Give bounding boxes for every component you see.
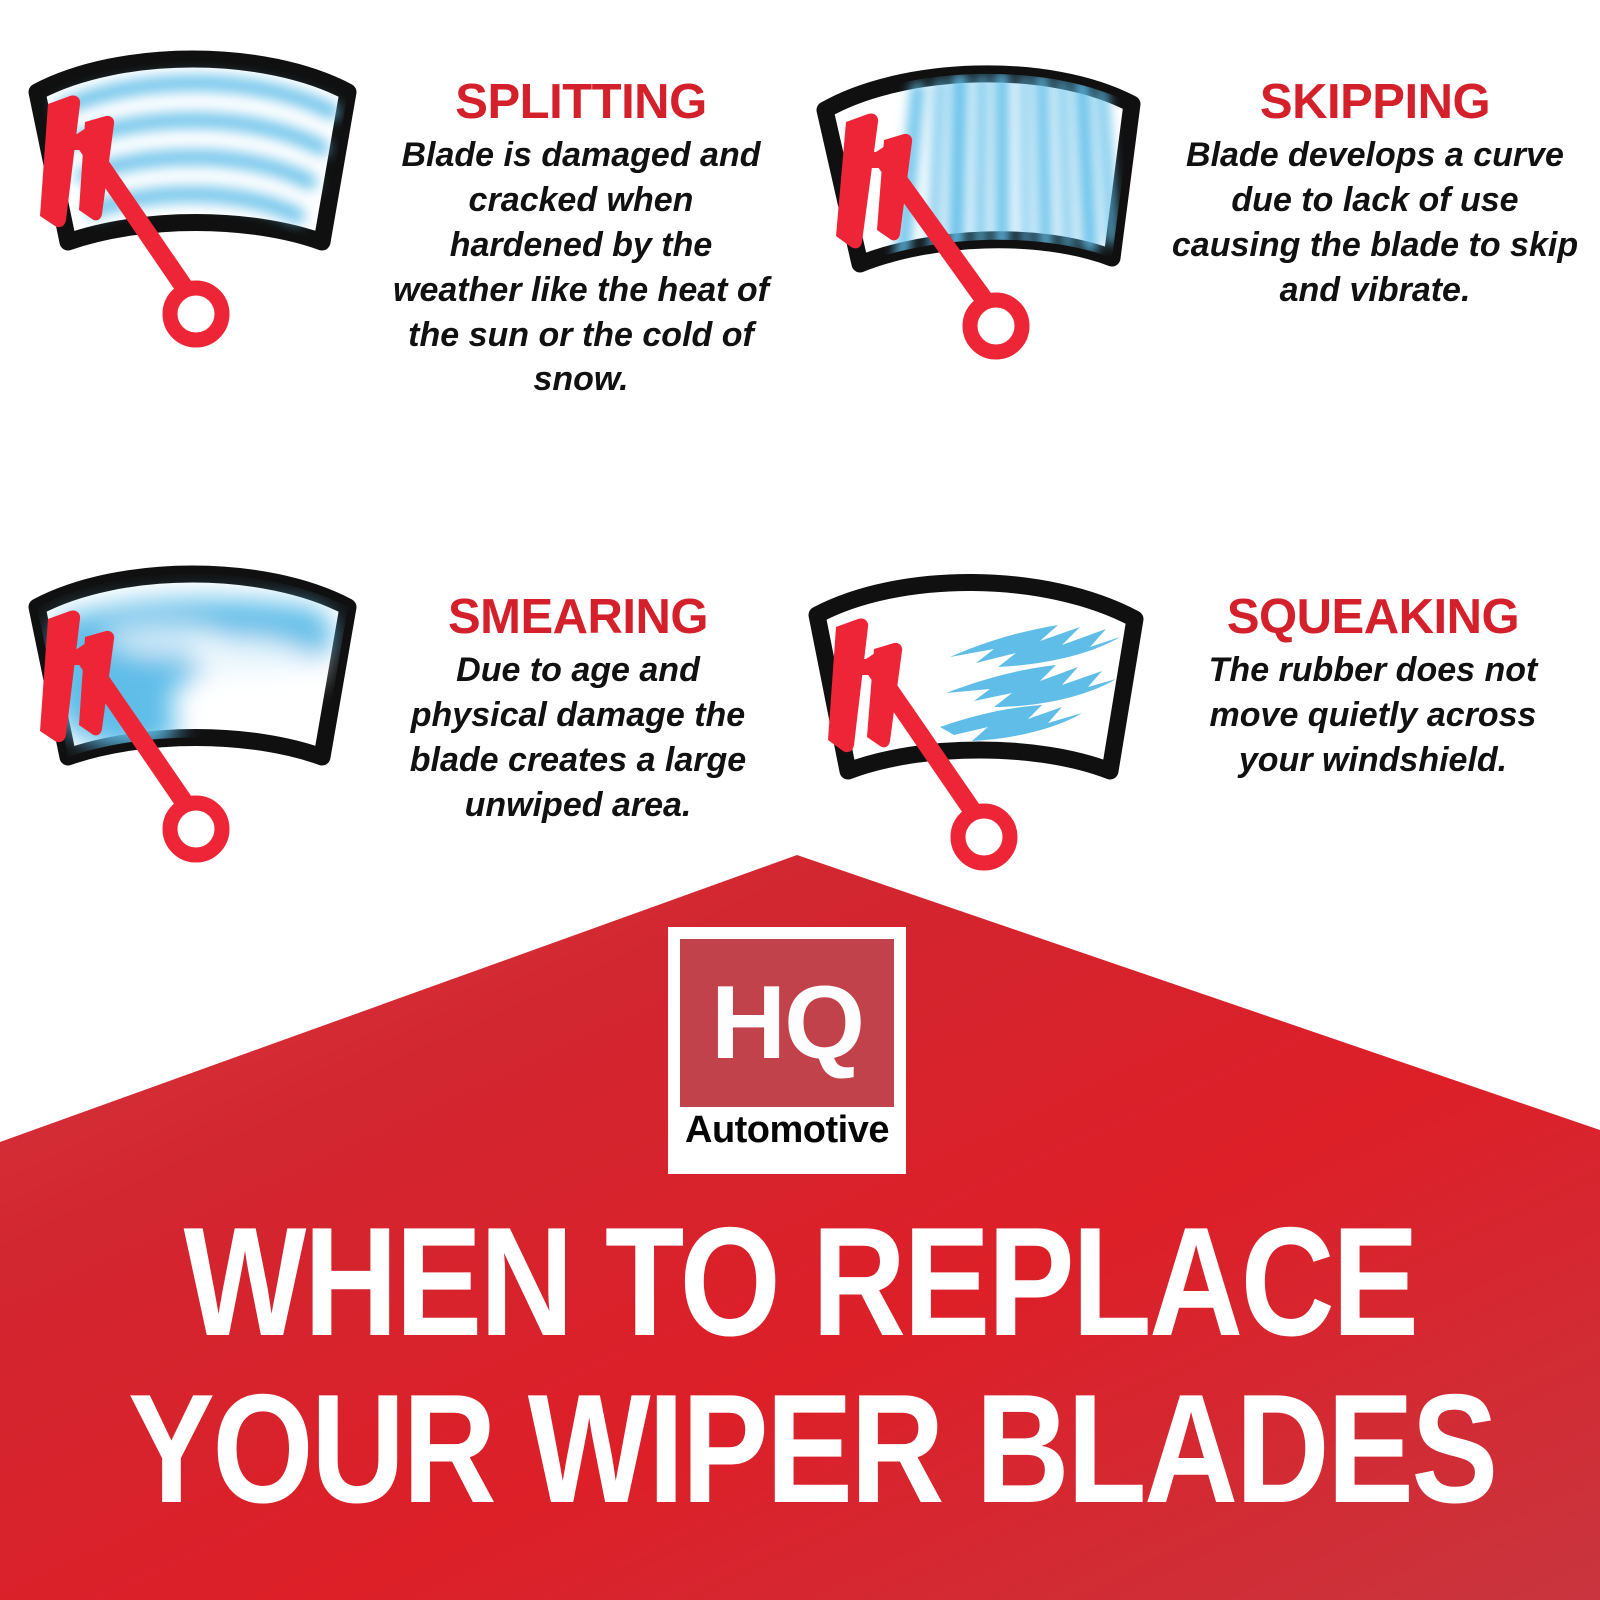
logo-mark-text: HQ bbox=[711, 971, 863, 1075]
card-title: SQUEAKING bbox=[1170, 593, 1576, 642]
page-title: WHEN TO REPLACE YOUR WIPER BLADES bbox=[0, 1208, 1600, 1524]
card-body: Due to age and physical damage the blade… bbox=[388, 648, 768, 828]
card-body: The rubber does not move quietly across … bbox=[1170, 648, 1576, 783]
hq-automotive-logo: HQ Automotive bbox=[668, 927, 906, 1174]
headline-line-1: WHEN TO REPLACE bbox=[128, 1208, 1472, 1357]
card-title: SMEARING bbox=[388, 593, 768, 642]
logo-mark-box: HQ bbox=[680, 939, 894, 1107]
card-body: Blade develops a curve due to lack of us… bbox=[1170, 133, 1580, 313]
headline-line-2: YOUR WIPER BLADES bbox=[128, 1375, 1472, 1524]
card-skipping: SKIPPING Blade develops a curve due to l… bbox=[790, 30, 1590, 430]
windshield-wiper-smearing-icon bbox=[10, 545, 380, 875]
card-splitting-text: SPLITTING Blade is damaged and cracked w… bbox=[380, 30, 790, 402]
windshield-wiper-squeaking-icon bbox=[790, 545, 1160, 875]
card-splitting: SPLITTING Blade is damaged and cracked w… bbox=[10, 30, 790, 430]
windshield-wiper-splitting-icon bbox=[10, 30, 380, 360]
logo-wordmark: Automotive bbox=[668, 1109, 906, 1152]
windshield-wiper-skipping-icon bbox=[790, 30, 1160, 360]
card-squeaking-text: SQUEAKING The rubber does not move quiet… bbox=[1160, 545, 1590, 783]
card-skipping-text: SKIPPING Blade develops a curve due to l… bbox=[1160, 30, 1590, 313]
card-title: SKIPPING bbox=[1170, 78, 1580, 127]
card-smearing-text: SMEARING Due to age and physical damage … bbox=[380, 545, 790, 828]
infographic-poster: SPLITTING Blade is damaged and cracked w… bbox=[0, 0, 1600, 1600]
card-title: SPLITTING bbox=[390, 78, 772, 127]
card-body: Blade is damaged and cracked when harden… bbox=[390, 133, 772, 402]
